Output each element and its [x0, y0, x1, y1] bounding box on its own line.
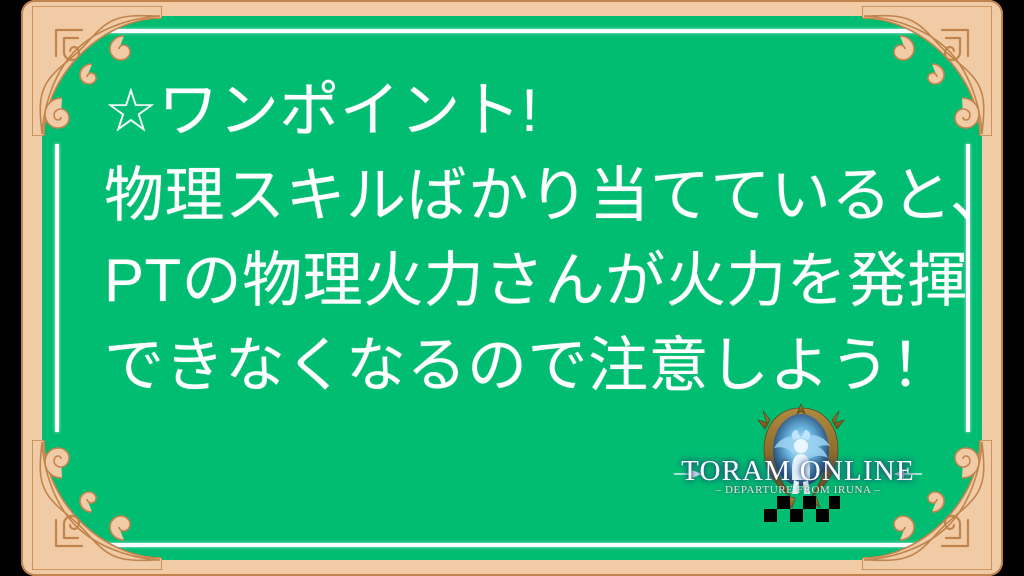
screenshot-canvas: ☆ワンポイント! 物理スキルばかり当てていると、 PTの物理火力さんが火力を発揮…: [0, 0, 1024, 576]
tip-line-2: 物理スキルばかり当てていると、: [104, 153, 984, 238]
tip-line-4: できなくなるので注意しよう！: [104, 323, 984, 408]
logo-transparency-checker-artifact: [764, 496, 840, 522]
tip-line-1: ☆ワンポイント!: [104, 68, 984, 153]
toram-online-logo: TORAM ONLINE – DEPARTURE FROM IRUNA –: [672, 404, 924, 532]
inset-rule-top: [98, 29, 926, 33]
tip-message-block: ☆ワンポイント! 物理スキルばかり当てていると、 PTの物理火力さんが火力を発揮…: [104, 68, 984, 408]
tip-line-3: PTの物理火力さんが火力を発揮: [104, 238, 984, 323]
corner-flourish-icon: [32, 440, 162, 570]
inset-rule-bottom: [98, 543, 926, 547]
inset-rule-left: [55, 144, 59, 432]
logo-wordmark: TORAM ONLINE: [672, 456, 924, 486]
logo-subtitle: – DEPARTURE FROM IRUNA –: [672, 484, 924, 496]
